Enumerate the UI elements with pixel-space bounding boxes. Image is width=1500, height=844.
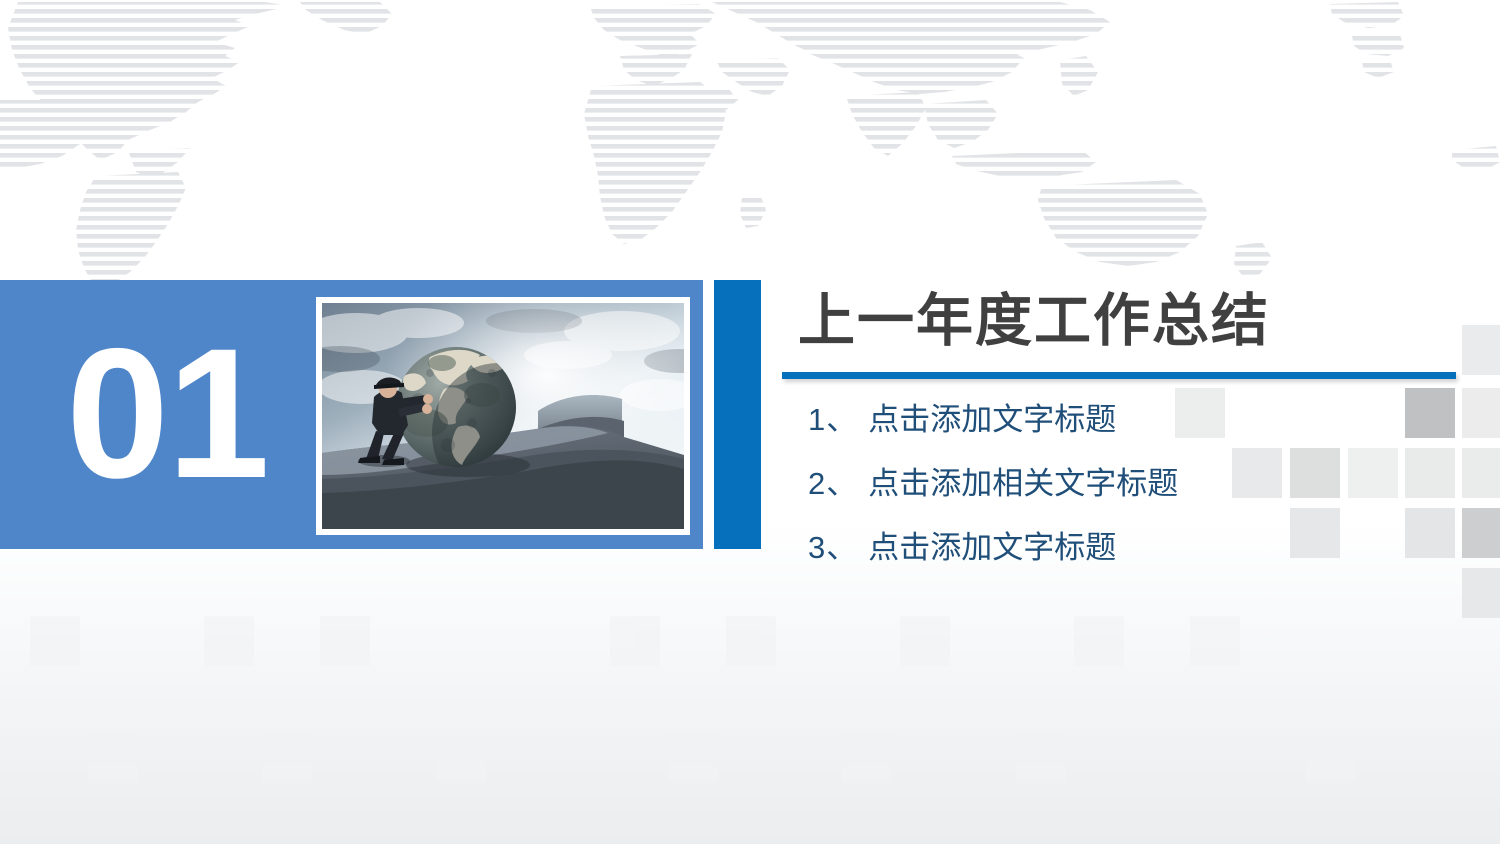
page-title: 上一年度工作总结 <box>798 292 1270 352</box>
list-item-label: 点击添加相关文字标题 <box>868 466 1178 501</box>
list-item-label: 点击添加文字标题 <box>868 530 1116 565</box>
section-image-frame <box>316 297 690 535</box>
list-item-label: 点击添加文字标题 <box>868 402 1116 437</box>
title-underline-rule <box>782 372 1456 379</box>
mosaic-square <box>1462 388 1500 438</box>
mosaic-square <box>1462 568 1500 618</box>
section-band-accent <box>714 280 761 549</box>
world-map-background <box>0 0 1500 300</box>
mosaic-square <box>1462 508 1500 558</box>
slide-canvas: 01 <box>0 0 1500 844</box>
mosaic-square <box>1462 448 1500 498</box>
list-item: 2、点击添加相关文字标题 <box>808 468 1448 499</box>
list-item-number: 3、 <box>808 530 858 565</box>
list-item-number: 1、 <box>808 402 858 437</box>
bullet-list: 1、点击添加文字标题 2、点击添加相关文字标题 3、点击添加文字标题 <box>808 404 1448 596</box>
mosaic-square <box>1462 325 1500 375</box>
section-number: 01 <box>22 280 312 549</box>
list-item: 3、点击添加文字标题 <box>808 532 1448 563</box>
list-item-number: 2、 <box>808 466 858 501</box>
businessman-pushing-globe-image <box>322 303 684 529</box>
list-item: 1、点击添加文字标题 <box>808 404 1448 435</box>
